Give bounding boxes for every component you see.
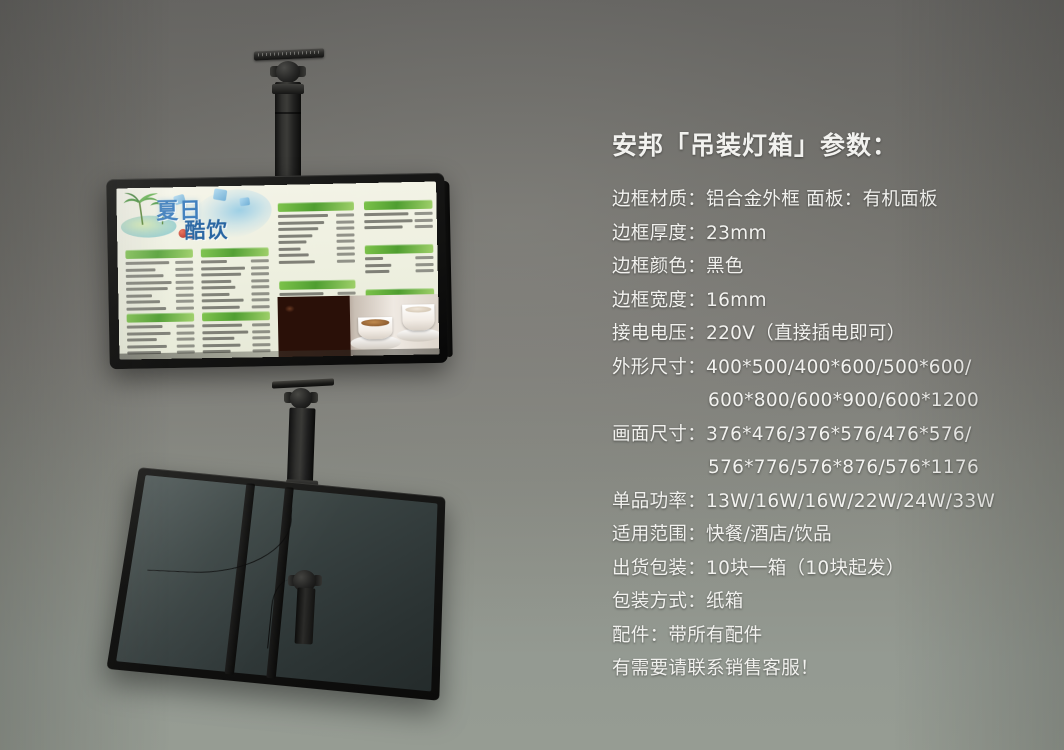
menu-section-header <box>201 247 269 257</box>
menu-section-header <box>364 200 433 210</box>
spec-line-picture-size: 画面尺寸：376*476/376*576/476*576/ <box>612 418 1052 452</box>
menu-section-5 <box>278 201 355 266</box>
menu-section-header <box>202 311 270 321</box>
hanging-menu-light-box: 夏日 酷饮 <box>106 173 448 369</box>
menu-hero-artwork: 夏日 酷饮 <box>118 187 270 246</box>
spec-line-frame-width: 边框宽度：16mm <box>612 284 1052 318</box>
spec-line-application: 适用范围：快餐/酒店/饮品 <box>612 518 1052 552</box>
spec-line-list: 边框材质：铝合金外框 面板：有机面板边框厚度：23mm边框颜色：黑色边框宽度：1… <box>612 183 1052 686</box>
menu-board-face: 夏日 酷饮 <box>116 182 439 360</box>
menu-section-7 <box>364 200 433 232</box>
menu-section-header <box>125 249 193 259</box>
upper-pole-collar <box>272 84 304 94</box>
menu-section-header <box>365 244 434 254</box>
upper-mount-pole <box>275 82 301 186</box>
spec-line-package-method: 包装方式：纸箱 <box>612 585 1052 619</box>
spec-line-outer-size-cont: 600*800/600*900/600*1200 <box>612 384 1052 418</box>
spec-line-power: 单品功率：13W/16W/16W/22W/24W/33W <box>612 485 1052 519</box>
ice-cube-graphic <box>213 188 227 201</box>
lower-mount-stem <box>295 588 316 645</box>
product-spec-image: 夏日 酷饮 <box>0 0 1064 750</box>
menu-section-4 <box>202 311 271 356</box>
menu-section-3 <box>127 312 195 356</box>
spec-line-contact: 有需要请联系销售客服！ <box>612 652 1052 686</box>
spec-line-frame-thickness: 边框厚度：23mm <box>612 217 1052 251</box>
menu-section-header <box>278 201 354 212</box>
spec-line-frame-material: 边框材质：铝合金外框 面板：有机面板 <box>612 183 1052 217</box>
menu-section-2 <box>201 247 270 311</box>
specification-panel: 安邦「吊装灯箱」参数： 边框材质：铝合金外框 面板：有机面板边框厚度：23mm边… <box>612 126 1052 686</box>
product-photo: 夏日 酷饮 <box>0 0 600 750</box>
pivot-knob <box>276 61 300 83</box>
pivot-knob <box>290 388 312 409</box>
coffee-beans-graphic <box>277 296 350 357</box>
spec-title: 安邦「吊装灯箱」参数： <box>612 126 1052 162</box>
ice-cube-graphic <box>239 197 250 206</box>
coffee-beans-and-cups-photo <box>277 294 439 357</box>
spec-line-voltage: 接电电压：220V（直接插电即可） <box>612 317 1052 351</box>
spec-line-outer-size: 外形尺寸：400*500/400*600/500*600/ <box>612 351 1052 385</box>
spec-line-shipping-package: 出货包装：10块一箱（10块起发） <box>612 552 1052 586</box>
menu-section-header <box>127 312 195 322</box>
light-box-rear-panel <box>106 467 445 701</box>
menu-section-1 <box>125 249 194 313</box>
menu-title-line2: 酷饮 <box>184 214 228 245</box>
spec-line-picture-size-cont: 576*776/576*876/576*1176 <box>612 451 1052 485</box>
spec-line-frame-color: 边框颜色：黑色 <box>612 250 1052 284</box>
menu-section-header <box>279 280 355 290</box>
spec-line-accessories: 配件：带所有配件 <box>612 619 1052 653</box>
menu-section-8 <box>365 244 434 276</box>
